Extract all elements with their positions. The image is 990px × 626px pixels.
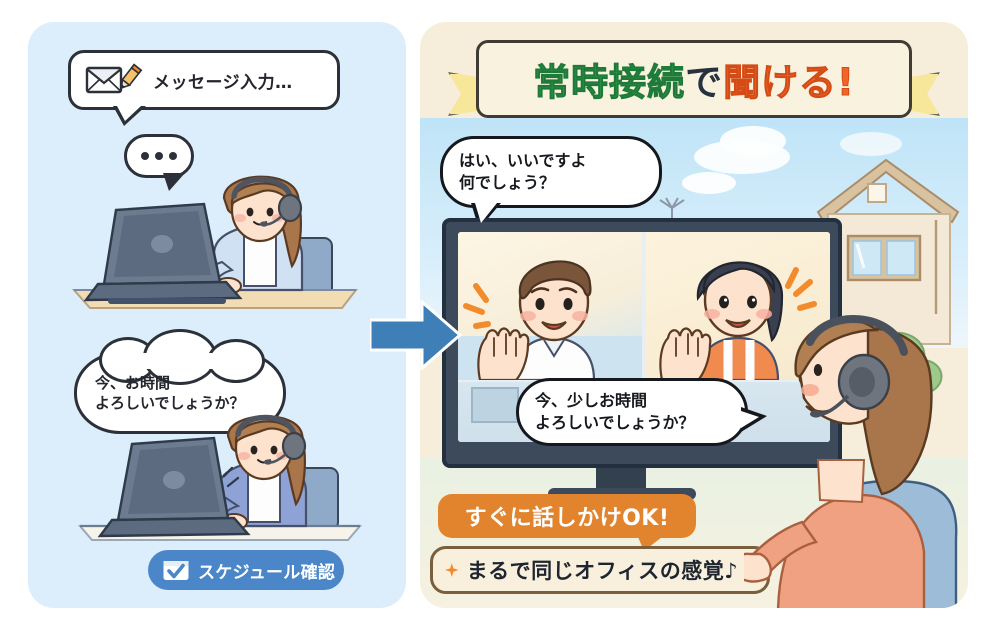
scene-woman-typing-laptop — [64, 162, 374, 322]
video-pane-man — [458, 232, 642, 380]
same-office-feel-pill: まるで同じオフィスの感覚♪ — [430, 546, 770, 594]
message-input-bubble: メッセージ入力… — [68, 50, 340, 110]
right-arrow — [370, 300, 462, 370]
banner-text-green: 常時接続 — [533, 52, 685, 106]
ask-speech-bubble: 今、少しお時間 よろしいでしょうか？ — [516, 378, 748, 446]
banner-ribbon: 常時接続 で 聞ける! — [448, 40, 940, 124]
talk-anytime-label: すぐに話しかけOK! — [465, 500, 670, 532]
cloud-mask — [105, 353, 255, 369]
message-bubble-text: メッセージ入力… — [153, 68, 293, 93]
reply-bubble-line-1: はい、いいですよ — [459, 150, 643, 172]
viewer-woman-back-view — [744, 290, 968, 608]
illustration-canvas: メッセージ入力… — [0, 0, 990, 626]
cloud-shape — [682, 172, 736, 194]
ask-bubble-line-1: 今、少しお時間 — [535, 390, 729, 412]
banner-text-navy: で — [685, 52, 723, 106]
pencil-icon — [117, 63, 143, 93]
calendar-check-icon — [162, 558, 190, 582]
schedule-confirm-label: スケジュール確認 — [198, 558, 335, 583]
thought-cloud-line-1: 今、お時間 — [95, 373, 283, 393]
tv-stand-neck — [596, 468, 646, 490]
reply-bubble-line-2: 何でしょう？ — [459, 172, 643, 194]
reply-speech-bubble: はい、いいですよ 何でしょう？ — [440, 136, 662, 208]
typing-dot — [169, 152, 177, 160]
same-office-feel-label: まるで同じオフィスの感覚♪ — [467, 555, 738, 585]
after-panel: 常時接続 で 聞ける! はい、いいですよ 何でしょう？ — [420, 22, 968, 608]
sparkle-icon — [445, 560, 459, 580]
typing-dot — [141, 152, 149, 160]
thought-cloud-line-2: よろしいでしょうか？ — [95, 393, 283, 413]
typing-dot — [155, 152, 163, 160]
cloud-shape — [720, 126, 786, 156]
banner-text-orange: 聞ける! — [723, 52, 855, 106]
talk-anytime-pill: すぐに話しかけOK! — [438, 494, 696, 538]
schedule-confirm-button[interactable]: スケジュール確認 — [148, 550, 344, 590]
before-panel: メッセージ入力… — [28, 22, 406, 608]
scene-woman-waiting-laptop — [72, 410, 372, 550]
ask-bubble-line-2: よろしいでしょうか？ — [535, 412, 729, 434]
banner-body: 常時接続 で 聞ける! — [476, 40, 912, 118]
